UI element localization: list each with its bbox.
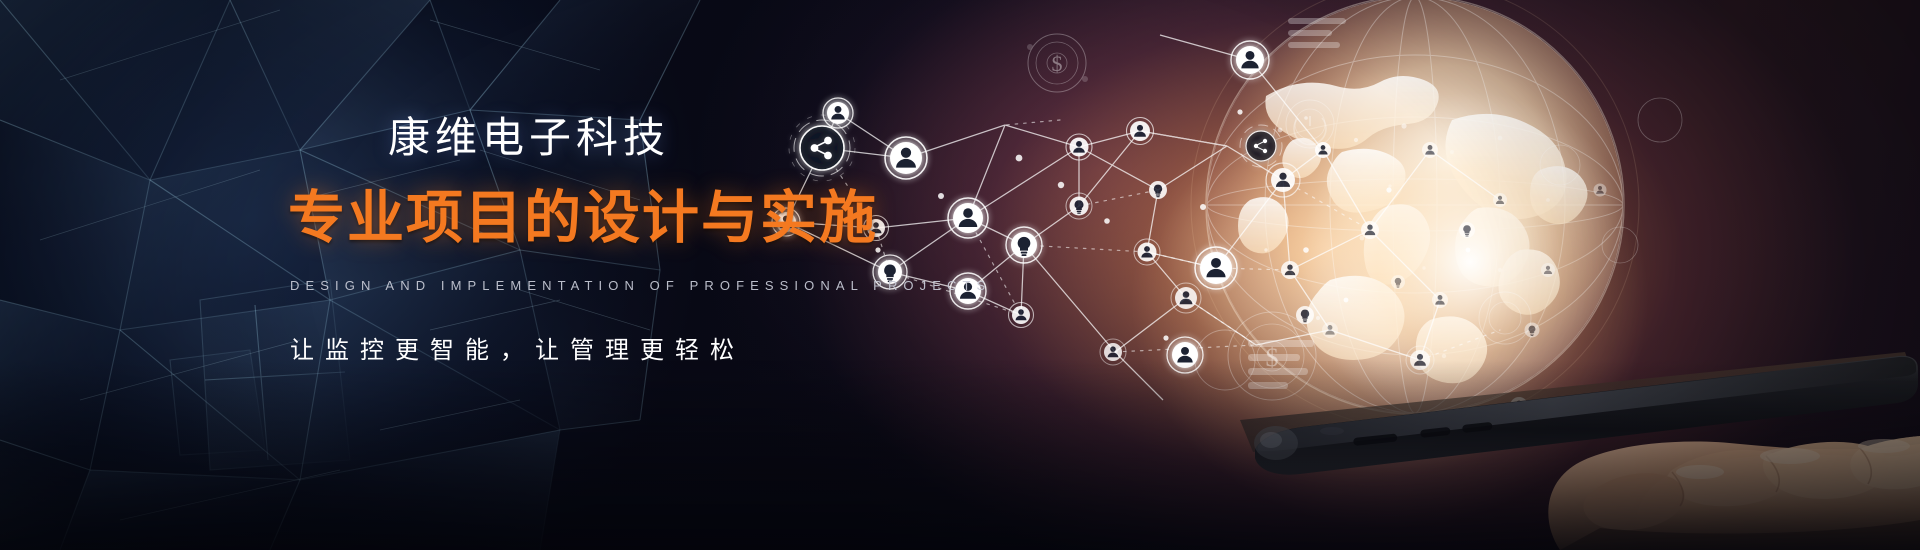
hero-banner: $ $	[0, 0, 1920, 550]
brand-title: 康维电子科技	[388, 104, 670, 165]
banner-copy-block: 康维电子科技 专业项目的设计与实施 DESIGN AND IMPLEMENTAT…	[0, 0, 860, 550]
headline-text: 专业项目的设计与实施	[288, 172, 878, 254]
subtitle-english: DESIGN AND IMPLEMENTATION OF PROFESSIONA…	[290, 278, 991, 293]
slogan-text: 让监控更智能，让管理更轻松	[290, 330, 745, 365]
